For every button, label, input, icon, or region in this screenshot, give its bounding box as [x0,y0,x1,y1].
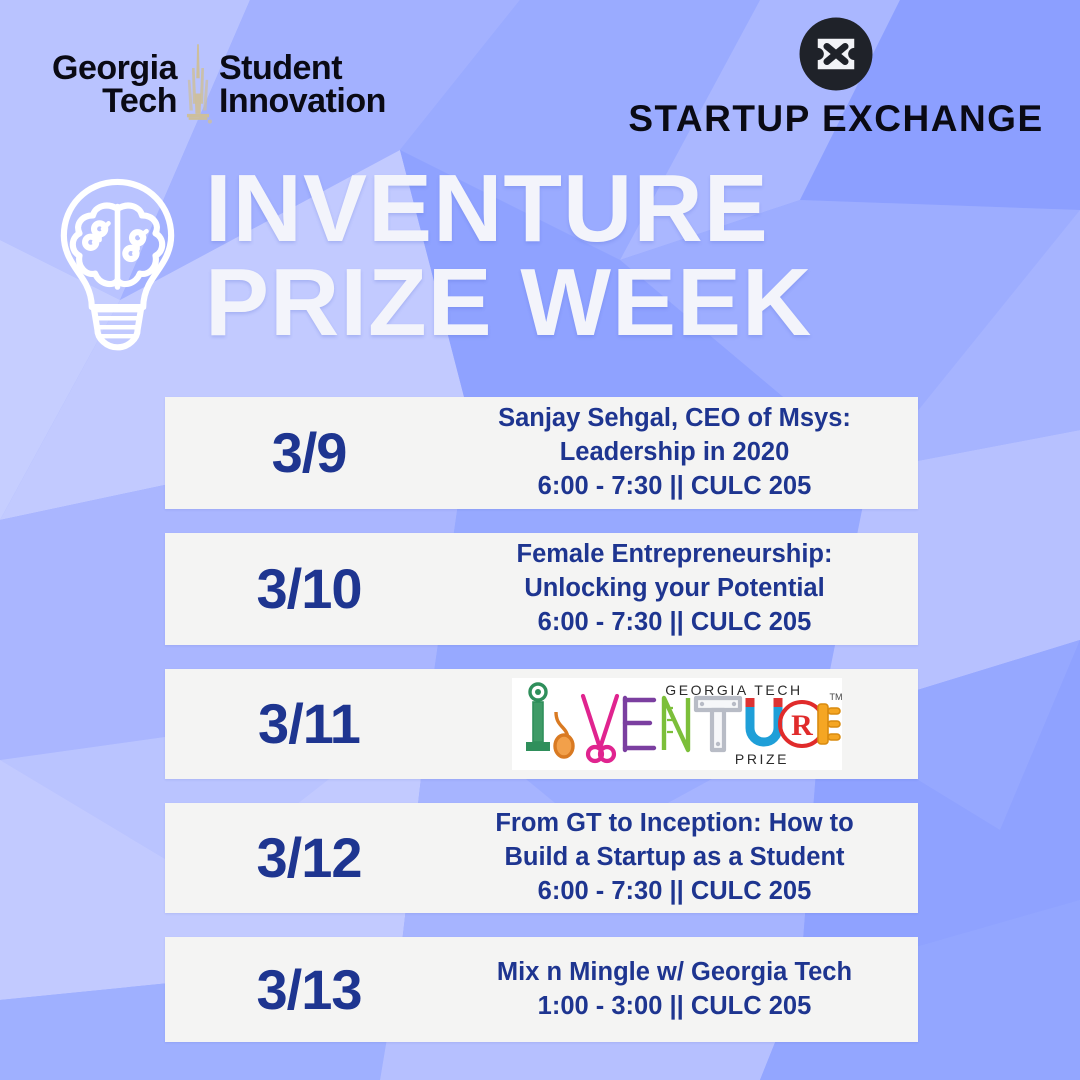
event-date: 3/11 [165,696,453,752]
event-details: R TM GEORGIA TECH PRIZE [453,678,918,770]
svg-text:R: R [791,709,813,742]
event-details: Female Entrepreneurship: Unlocking your … [453,538,918,640]
event-row[interactable]: 3/9 Sanjay Sehgal, CEO of Msys: Leadersh… [165,397,918,509]
event-detail-line: 6:00 - 7:30 || CULC 205 [453,875,896,909]
gt-logo-right-words: Student Innovation [219,52,386,119]
event-date: 3/13 [165,962,453,1018]
event-date: 3/9 [165,425,453,481]
title-block: INVENTURE PRIZE WEEK [40,168,1040,373]
gt-logo-left-words: Georgia Tech [52,52,177,119]
event-row[interactable]: 3/11 [165,669,918,779]
title-line-1: INVENTURE [205,162,812,256]
lightbulb-brain-icon [50,173,185,363]
event-detail-line: 6:00 - 7:30 || CULC 205 [453,606,896,640]
gt-logo-line1-right: Student [219,52,386,85]
gt-logo-line1-left: Georgia [52,52,177,85]
event-row[interactable]: 3/13 Mix n Mingle w/ Georgia Tech 1:00 -… [165,937,918,1042]
event-details: Mix n Mingle w/ Georgia Tech 1:00 - 3:00… [453,956,918,1024]
event-detail-line: Leadership in 2020 [453,436,896,470]
event-schedule-list: 3/9 Sanjay Sehgal, CEO of Msys: Leadersh… [165,397,918,1066]
event-detail-line: From GT to Inception: How to [453,807,896,841]
event-date: 3/12 [165,830,453,886]
startup-exchange-logo: STARTUP EXCHANGE [630,16,1042,140]
event-row[interactable]: 3/12 From GT to Inception: How to Build … [165,803,918,913]
poster-canvas: Georgia Tech Student Innovation [0,0,1080,1080]
event-detail-line: Female Entrepreneurship: [453,538,896,572]
event-detail-line: Mix n Mingle w/ Georgia Tech [453,956,896,990]
event-date: 3/10 [165,561,453,617]
event-detail-line: 1:00 - 3:00 || CULC 205 [453,990,896,1024]
gt-logo-line2-left: Tech [52,85,177,118]
event-row[interactable]: 3/10 Female Entrepreneurship: Unlocking … [165,533,918,645]
event-detail-line: Unlocking your Potential [453,572,896,606]
event-details: From GT to Inception: How to Build a Sta… [453,807,918,909]
title-line-2: PRIZE WEEK [205,256,812,350]
inventure-bottom-text: PRIZE [734,751,788,767]
gt-logo-line2-right: Innovation [219,85,386,118]
header: Georgia Tech Student Innovation [0,0,1080,150]
inventure-top-text: GEORGIA TECH [665,682,803,698]
startup-exchange-badge-icon [798,16,874,92]
event-details: Sanjay Sehgal, CEO of Msys: Leadership i… [453,402,918,504]
startup-exchange-name: STARTUP EXCHANGE [628,98,1043,140]
event-detail-line: 6:00 - 7:30 || CULC 205 [453,470,896,504]
event-detail-line: Build a Startup as a Student [453,841,896,875]
georgia-tech-inventure-prize-logo: R TM GEORGIA TECH PRIZE [512,678,842,770]
page-title: INVENTURE PRIZE WEEK [205,162,812,350]
event-detail-line: Sanjay Sehgal, CEO of Msys: [453,402,896,436]
georgia-tech-tower-icon [181,42,215,128]
inventure-trademark: TM [829,692,842,702]
georgia-tech-student-innovation-logo: Georgia Tech Student Innovation [52,42,386,128]
